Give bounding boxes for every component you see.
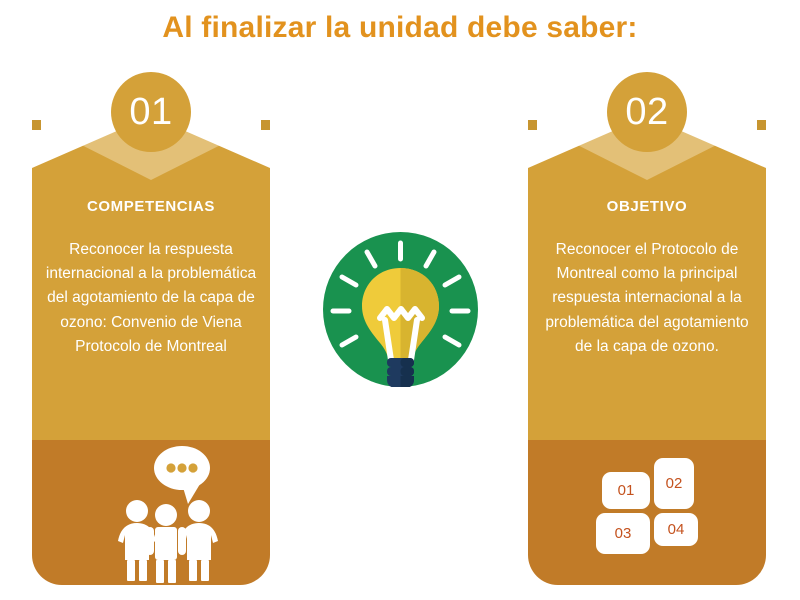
card-body-panel: COMPETENCIAS Reconocer la respuesta inte… [32, 120, 270, 440]
bulb-glass [362, 268, 439, 362]
ribbon-tab-left-shape [32, 120, 41, 130]
card-heading: OBJETIVO [528, 198, 766, 215]
card-competencias: COMPETENCIAS Reconocer la respuesta inte… [32, 120, 270, 585]
tile-02: 02 [654, 458, 694, 509]
card-footer-panel [32, 440, 270, 585]
card-heading: COMPETENCIAS [32, 198, 270, 215]
card-number-badge: 02 [607, 72, 687, 152]
card-number-label: 02 [625, 93, 668, 131]
tile-03: 03 [596, 513, 650, 554]
card-body-text: Reconocer la respuesta internacional a l… [40, 238, 262, 359]
card-number-badge: 01 [111, 72, 191, 152]
people-talking-icon [32, 440, 270, 585]
card-number-label: 01 [129, 93, 172, 131]
ribbon-tab-right-shape [261, 120, 270, 130]
ribbon-tab-right-shape [757, 120, 766, 130]
tile-label: 03 [615, 525, 632, 542]
tile-label: 02 [666, 475, 683, 492]
card-footer-panel: 01 02 03 04 [528, 440, 766, 585]
infographic-canvas: Al finalizar la unidad debe saber: COMPE… [0, 0, 800, 600]
bulb-base [387, 358, 414, 387]
tile-label: 04 [668, 521, 685, 538]
tile-04: 04 [654, 513, 698, 546]
numbered-tiles-icon: 01 02 03 04 [596, 458, 698, 554]
card-body-text: Reconocer el Protocolo de Montreal como … [536, 238, 758, 359]
tile-label: 01 [618, 482, 635, 499]
card-objetivo: OBJETIVO Reconocer el Protocolo de Montr… [528, 120, 766, 585]
ribbon-tab-left-shape [528, 120, 537, 130]
card-body-panel: OBJETIVO Reconocer el Protocolo de Montr… [528, 120, 766, 440]
tile-01: 01 [602, 472, 650, 509]
lightbulb-idea-icon [323, 232, 478, 387]
page-title: Al finalizar la unidad debe saber: [0, 8, 800, 48]
